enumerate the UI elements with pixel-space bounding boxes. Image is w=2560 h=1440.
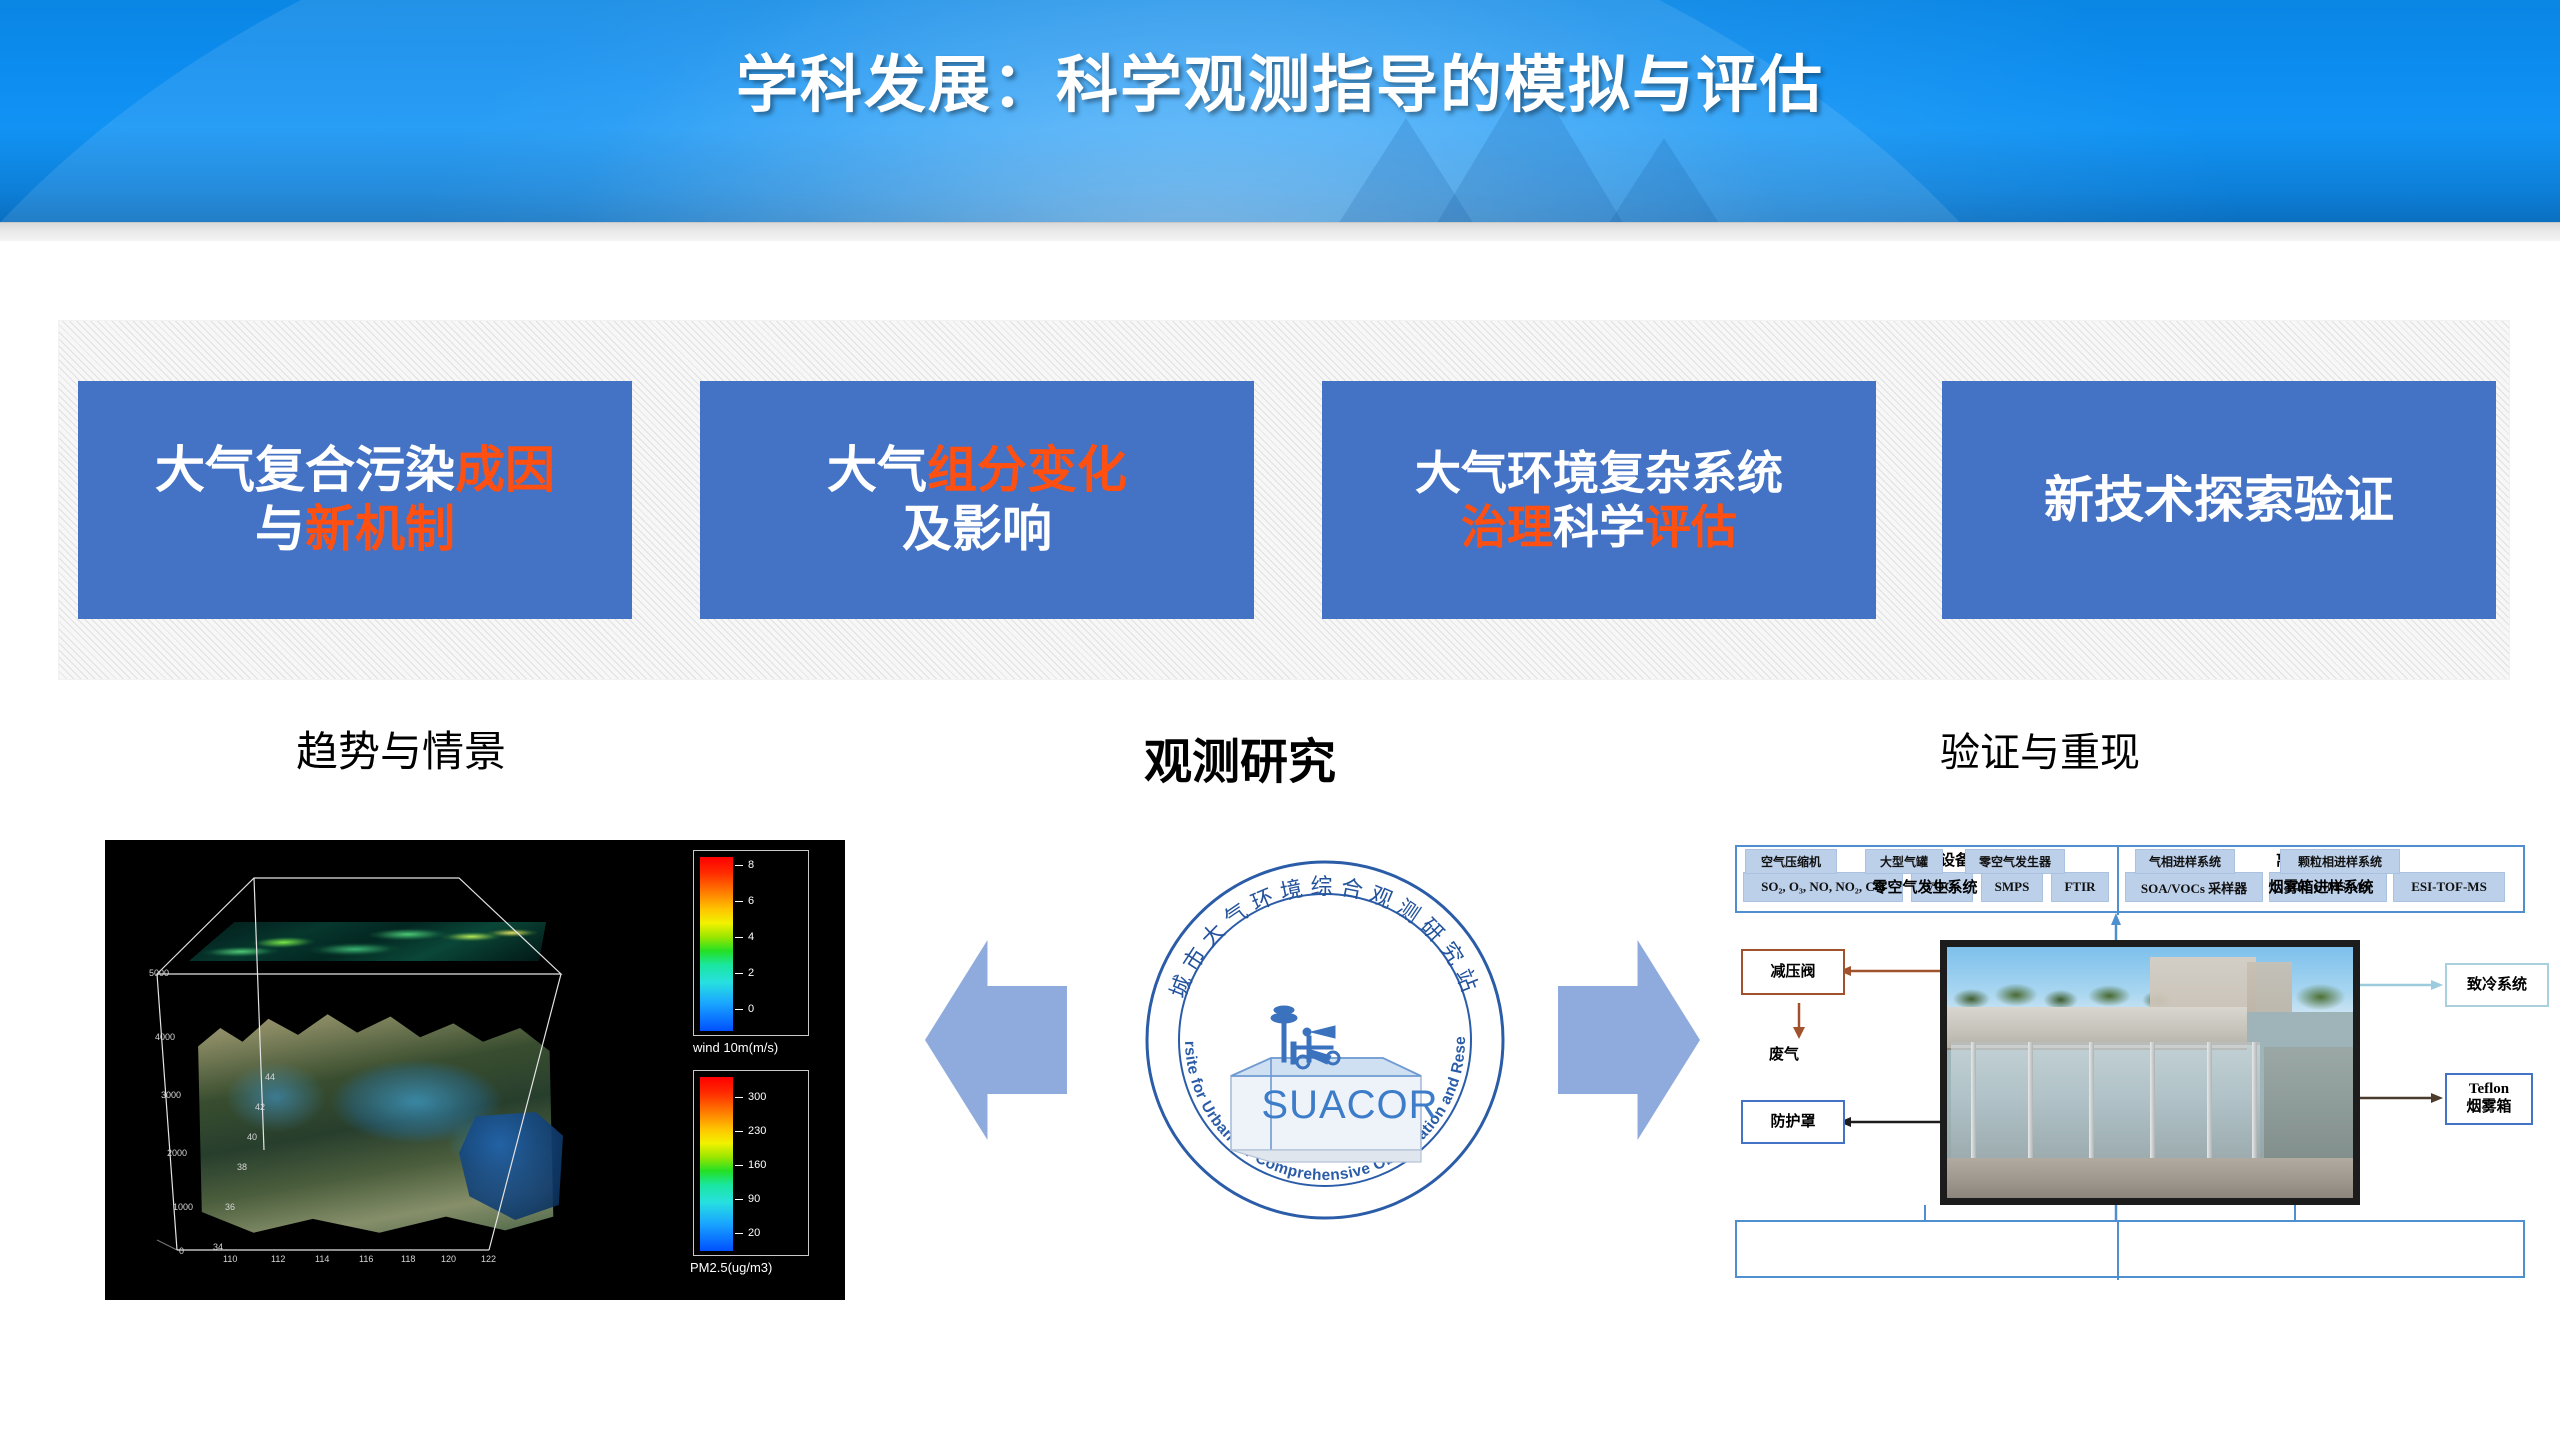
pm-tick-230: 230 <box>735 1125 766 1137</box>
wind-tick-6: 6 <box>735 895 754 907</box>
smog-inlet-system-title: 烟雾箱进样系统 <box>2117 876 2525 897</box>
x-tick-116: 116 <box>359 1254 373 1264</box>
colorbar-wind-ticks: 8 6 4 2 0 <box>735 851 809 1037</box>
colorbar-wind-label: wind 10m(m/s) <box>693 1040 778 1055</box>
x-tick-110: 110 <box>223 1254 237 1264</box>
system-chip-gas-inlet[interactable]: 气相进样系统 <box>2135 849 2235 874</box>
photo-chamber-post <box>2028 1042 2033 1173</box>
wind-tick-0: 0 <box>735 1003 754 1015</box>
photo-chamber-post <box>1971 1042 1976 1173</box>
wind-tick-4: 4 <box>735 931 754 943</box>
wind-tick-8: 8 <box>735 859 754 871</box>
photo-chamber-post <box>2207 1042 2212 1173</box>
pm-tick-20: 20 <box>735 1227 760 1239</box>
y-tick-38: 38 <box>237 1162 247 1172</box>
pm-tick-160: 160 <box>735 1159 766 1171</box>
x-tick-118: 118 <box>401 1254 415 1264</box>
photo-rooftop-floor <box>1947 1158 2353 1198</box>
x-tick-120: 120 <box>441 1254 456 1264</box>
axis-wireframe <box>129 850 649 1280</box>
z-tick-3000: 3000 <box>161 1090 181 1100</box>
callout-teflon-line-2: 烟雾箱 <box>2466 1099 2511 1117</box>
viz-cube-container: 5000 4000 3000 2000 1000 0 44 42 40 38 3… <box>129 850 649 1280</box>
logo-arc-top-text: 城市大气环境综合观测研究站 <box>1166 875 1483 1002</box>
z-tick-0: 0 <box>179 1246 184 1256</box>
smog-chamber-photo-content <box>1947 947 2353 1198</box>
pm-tick-300: 300 <box>735 1091 766 1103</box>
pillar-3-line-2: 治理科学评估 <box>1461 500 1737 554</box>
y-tick-34: 34 <box>213 1242 223 1252</box>
callout-protective-cover[interactable]: 防护罩 <box>1741 1100 1845 1144</box>
pillar-1-line-1: 大气复合污染成因 <box>155 441 555 500</box>
pillar-3-line-1: 大气环境复杂系统 <box>1415 446 1783 500</box>
terrain-3d-visualization: 5000 4000 3000 2000 1000 0 44 42 40 38 3… <box>105 840 845 1300</box>
wind-tick-2: 2 <box>735 967 754 979</box>
smog-chamber-diagram: 在线监测设备 离线监测设备 SO₂, O₃, NO, NO₂, CO VOCs … <box>1735 845 2525 1265</box>
pillar-4-line-1: 新技术探索验证 <box>2044 471 2394 530</box>
smog-chamber-photo <box>1940 940 2360 1205</box>
colorbar-pm25-gradient <box>700 1077 733 1251</box>
colorbar-wind-gradient <box>700 857 733 1031</box>
z-tick-1000: 1000 <box>173 1202 193 1212</box>
pillar-card-2[interactable]: 大气组分变化 及影响 <box>700 381 1254 619</box>
photo-railing <box>2264 1047 2353 1162</box>
colorbar-pm25: 300 230 160 90 20 <box>693 1070 809 1256</box>
callout-cooling-system[interactable]: 致冷系统 <box>2445 963 2549 1007</box>
callout-teflon-chamber[interactable]: Teflon 烟雾箱 <box>2445 1073 2533 1125</box>
pillar-1-line-2: 与新机制 <box>255 500 455 559</box>
x-tick-122: 122 <box>481 1254 496 1264</box>
system-chip-particle-inlet[interactable]: 颗粒相进样系统 <box>2280 849 2400 874</box>
section-heading-center: 观测研究 <box>1144 722 1336 792</box>
y-tick-36: 36 <box>225 1202 235 1212</box>
system-chip-compressor[interactable]: 空气压缩机 <box>1745 849 1837 874</box>
pm-tick-90: 90 <box>735 1193 760 1205</box>
system-chip-zero-air-gen[interactable]: 零空气发生器 <box>1965 849 2065 874</box>
photo-chamber-post <box>2150 1042 2155 1173</box>
logo-center-text: SUACOR <box>1261 1083 1438 1127</box>
pillar-card-4[interactable]: 新技术探索验证 <box>1942 381 2496 619</box>
z-tick-5000: 5000 <box>149 968 169 978</box>
suacor-logo-svg: 城市大气环境综合观测研究站 Supersite for Urban Air Co… <box>1135 850 1515 1230</box>
x-tick-112: 112 <box>271 1254 285 1264</box>
section-heading-left: 趋势与情景 <box>296 718 506 779</box>
callout-pressure-valve[interactable]: 减压阀 <box>1741 949 1845 995</box>
section-heading-right: 验证与重现 <box>1940 720 2140 778</box>
colorbar-pm25-ticks: 300 230 160 90 20 <box>735 1071 809 1257</box>
colorbar-pm25-label: PM2.5(ug/m3) <box>690 1260 772 1275</box>
colorbar-wind: 8 6 4 2 0 <box>693 850 809 1036</box>
pillar-card-1[interactable]: 大气复合污染成因 与新机制 <box>78 381 632 619</box>
z-tick-4000: 4000 <box>155 1032 175 1042</box>
photo-building-2 <box>2247 962 2292 1012</box>
z-tick-2000: 2000 <box>167 1148 187 1158</box>
photo-chamber-post <box>2089 1042 2094 1173</box>
system-chip-gas-tank[interactable]: 大型气罐 <box>1865 849 1943 874</box>
suacor-logo: 城市大气环境综合观测研究站 Supersite for Urban Air Co… <box>1135 850 1515 1230</box>
callout-waste-gas: 废气 <box>1769 1043 1799 1064</box>
pillar-2-line-2: 及影响 <box>902 500 1052 559</box>
systems-band <box>1735 1220 2525 1278</box>
x-tick-114: 114 <box>315 1254 329 1264</box>
y-tick-42: 42 <box>255 1102 265 1112</box>
systems-band-divider <box>2117 1222 2119 1280</box>
pillar-card-3[interactable]: 大气环境复杂系统 治理科学评估 <box>1322 381 1876 619</box>
callout-teflon-line-1: Teflon <box>2469 1081 2509 1099</box>
y-tick-40: 40 <box>247 1132 257 1142</box>
photo-teflon-chamber <box>1951 1042 2260 1162</box>
photo-chamber-post <box>2252 1042 2257 1173</box>
slide-root: 学科发展：科学观测指导的模拟与评估 大气复合污染成因 与新机制 大气组分变化 及… <box>0 0 2560 1440</box>
photo-building-1 <box>2150 957 2256 1012</box>
zero-air-system-title: 零空气发生系统 <box>1735 876 2115 897</box>
y-tick-44: 44 <box>265 1072 275 1082</box>
pillar-2-line-1: 大气组分变化 <box>827 441 1127 500</box>
svg-text:城市大气环境综合观测研究站: 城市大气环境综合观测研究站 <box>1166 875 1483 1002</box>
